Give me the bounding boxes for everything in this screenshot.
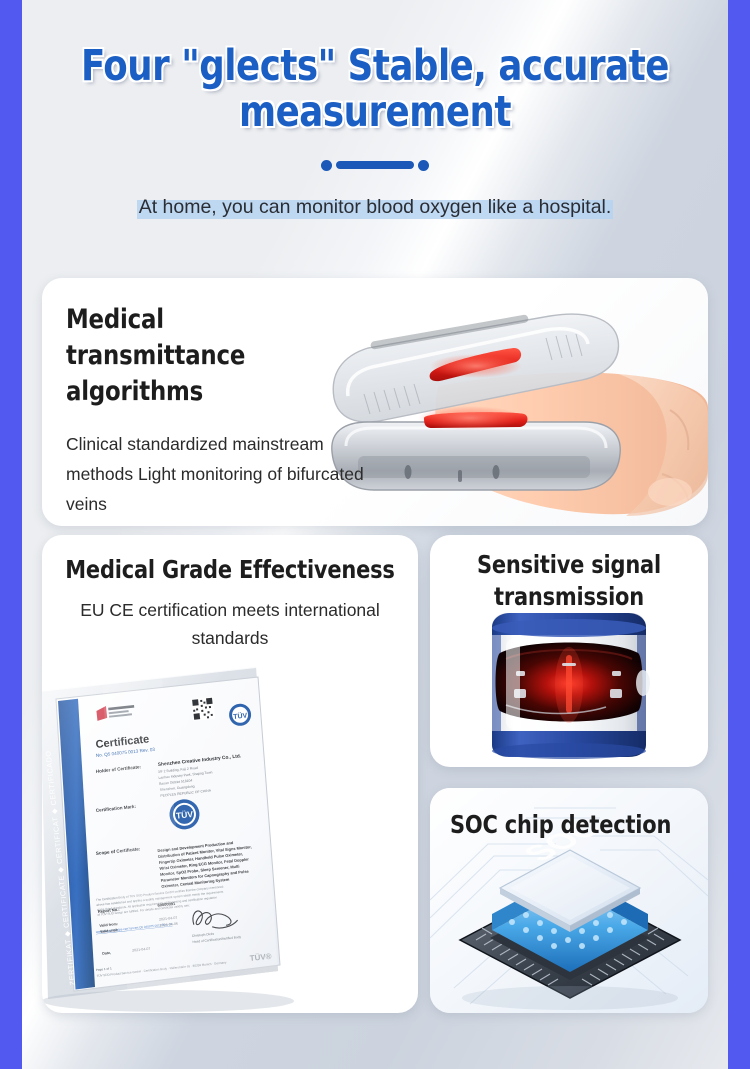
card-title-certification: Medical Grade Effectiveness bbox=[51, 555, 408, 584]
fingertip-oximeter-image bbox=[318, 278, 708, 526]
page-header: Four "glects" Stable, accurate measureme… bbox=[22, 0, 728, 222]
left-blue-rail bbox=[0, 0, 22, 1069]
card-title-soc: SOC chip detection bbox=[450, 810, 695, 839]
page-title: Four "glects" Stable, accurate measureme… bbox=[50, 44, 700, 135]
feature-page: Four "glects" Stable, accurate measureme… bbox=[0, 0, 750, 1069]
decorative-divider bbox=[314, 159, 436, 171]
red-led-sensor-image bbox=[430, 599, 708, 767]
card-title-signal: Sensitive signal transmission bbox=[437, 549, 701, 614]
divider-dot-left-icon bbox=[321, 160, 332, 171]
card-sensitive-signal-transmission[interactable]: Sensitive signal transmission bbox=[430, 535, 708, 767]
card-body-transmittance: Clinical standardized mainstream methods… bbox=[66, 429, 366, 519]
tuv-certificate-image: ZERTIFIKAT ◆ CERTIFICATE ◆ CERTIFICAT ◆ … bbox=[42, 655, 418, 1013]
card-medical-grade-effectiveness[interactable]: Medical Grade Effectiveness EU CE certif… bbox=[42, 535, 418, 1013]
card-medical-transmittance[interactable]: Medical transmittance algorithms Clinica… bbox=[42, 278, 708, 526]
card-soc-chip-detection[interactable]: SOC SOC chip detection bbox=[430, 788, 708, 1013]
divider-dot-right-icon bbox=[418, 160, 429, 171]
page-subtitle-wrapper: At home, you can monitor blood oxygen li… bbox=[22, 193, 728, 222]
page-subtitle: At home, you can monitor blood oxygen li… bbox=[137, 196, 614, 219]
right-blue-rail bbox=[728, 0, 750, 1069]
card-title-transmittance: Medical transmittance algorithms bbox=[66, 302, 348, 411]
divider-bar-icon bbox=[336, 161, 414, 169]
card-body-certification: EU CE certification meets international … bbox=[80, 596, 380, 653]
